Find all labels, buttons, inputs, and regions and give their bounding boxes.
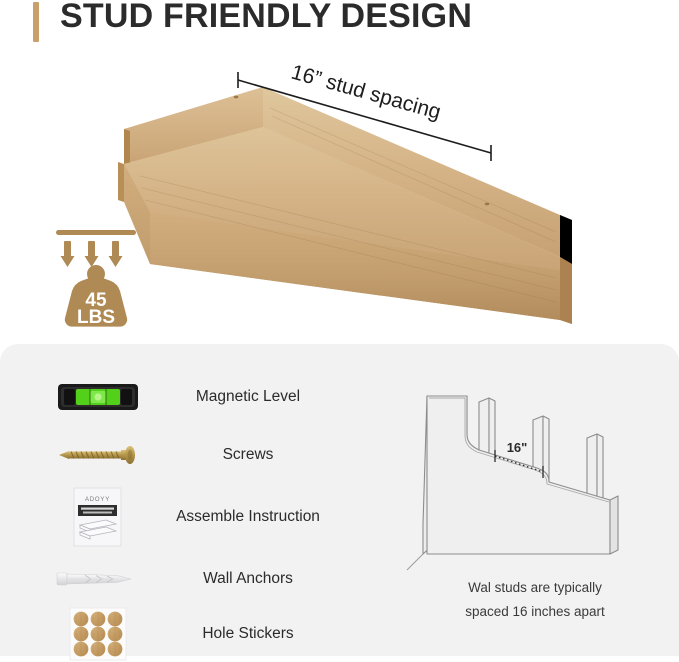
list-item: Screws [0, 428, 380, 482]
accessory-label: Assemble Instruction [150, 508, 346, 527]
list-item: Wall Anchors [0, 552, 380, 606]
svg-text:ADOYY: ADOYY [85, 497, 110, 503]
page-title: STUD FRIENDLY DESIGN [60, 0, 472, 36]
stud-dimension-label: 16" [507, 440, 528, 455]
hole-sticker-sheet-icon [50, 606, 146, 662]
accessory-label: Wall Anchors [150, 570, 346, 589]
weight-capacity-badge: 45 LBS [48, 222, 144, 330]
caption-line-2: spaced 16 inches apart [405, 600, 665, 624]
instruction-booklet-icon: ADOYY [50, 486, 146, 548]
stud-diagram-caption: Wal studs are typically spaced 16 inches… [405, 576, 665, 623]
level-tool-icon [50, 370, 146, 424]
wall-stud-diagram: 16" [405, 394, 665, 580]
list-item: Magnetic Level [0, 370, 380, 424]
title-accent-bar [33, 2, 39, 42]
down-arrow-icon [61, 241, 123, 267]
accessory-label: Hole Stickers [150, 625, 346, 644]
list-item: Hole Stickers [0, 606, 380, 662]
accessory-label: Magnetic Level [150, 388, 346, 407]
accessories-list: Magnetic Level [0, 356, 380, 646]
wall-anchor-icon [50, 552, 146, 606]
screw-icon [50, 428, 146, 482]
caption-line-1: Wal studs are typically [405, 576, 665, 600]
weight-unit: LBS [77, 307, 115, 328]
shelf-end-cap [560, 215, 572, 324]
ceiling-bar [56, 230, 136, 235]
shelf-left-end [118, 162, 124, 202]
page-header: STUD FRIENDLY DESIGN [0, 0, 679, 58]
accessory-label: Screws [150, 446, 346, 465]
list-item: ADOYY Assemble Instruction [0, 486, 380, 548]
